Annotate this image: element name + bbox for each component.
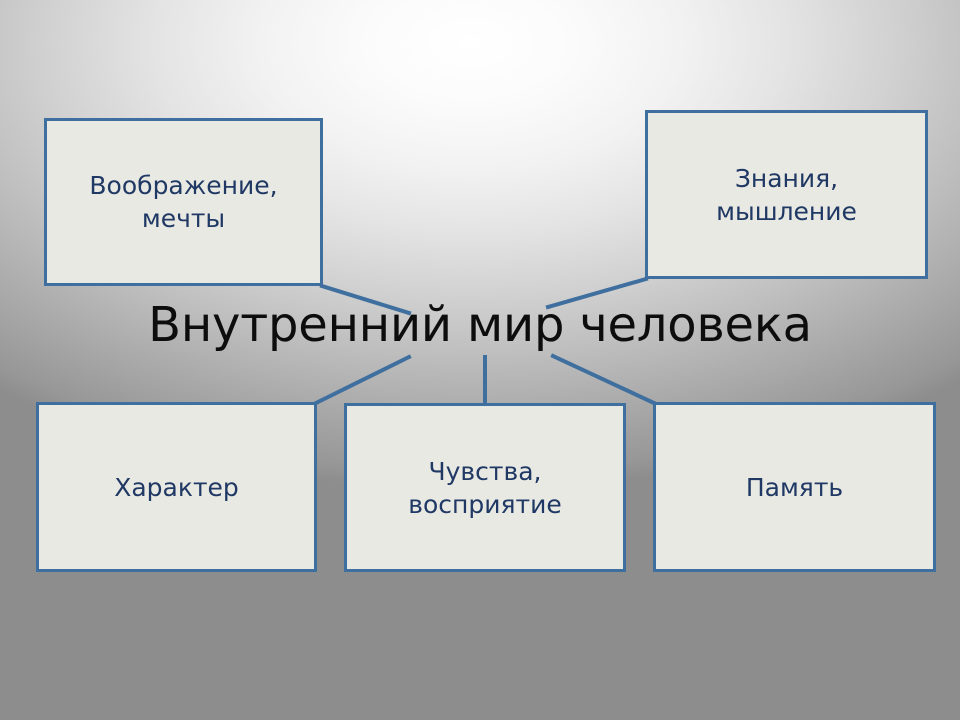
node-character[interactable]: Характер — [36, 402, 317, 572]
node-memory-label: Память — [666, 471, 923, 504]
node-imagination[interactable]: Воображение,мечты — [44, 118, 323, 286]
node-feelings-label: Чувства,восприятие — [357, 455, 613, 521]
node-imagination-line1: Воображение, — [89, 171, 277, 200]
connector-lines — [0, 0, 960, 720]
node-knowledge-line1: Знания, — [735, 164, 838, 193]
node-memory[interactable]: Память — [653, 402, 936, 572]
node-knowledge[interactable]: Знания,мышление — [645, 110, 928, 279]
slide-canvas: Воображение,мечты Знания,мышление Внутре… — [0, 0, 960, 720]
connector-memory-center — [553, 356, 654, 403]
node-feelings-line1: Чувства, — [429, 457, 542, 486]
node-feelings-line2: восприятие — [408, 490, 561, 519]
node-imagination-line2: мечты — [142, 204, 225, 233]
node-character-label: Характер — [49, 471, 304, 504]
diagram-center-title: Внутренний мир человека — [0, 299, 960, 353]
node-imagination-label: Воображение,мечты — [57, 169, 310, 235]
connector-character-center — [316, 357, 409, 403]
node-knowledge-line2: мышление — [716, 197, 857, 226]
node-knowledge-label: Знания,мышление — [658, 162, 915, 228]
node-feelings[interactable]: Чувства,восприятие — [344, 403, 626, 572]
